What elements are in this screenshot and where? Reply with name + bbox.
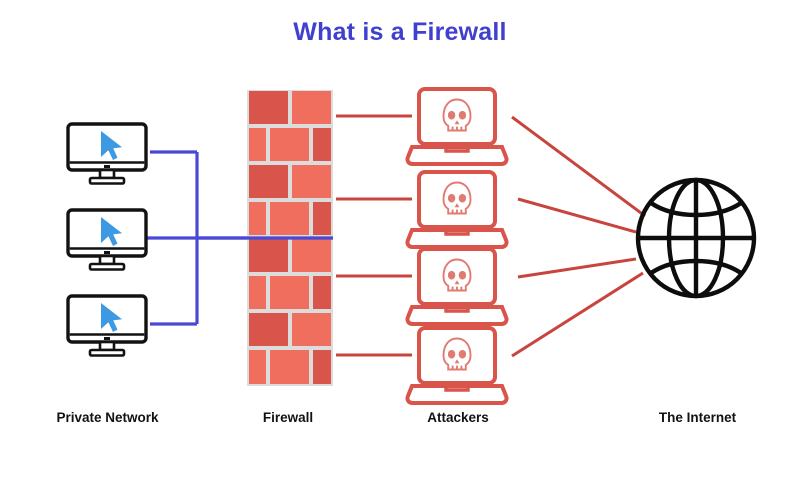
diagram-canvas: What is a Firewall xyxy=(0,0,800,480)
label-internet: The Internet xyxy=(620,410,775,425)
label-attackers: Attackers xyxy=(383,410,533,425)
label-firewall: Firewall xyxy=(218,410,358,425)
label-private-network: Private Network xyxy=(20,410,195,425)
internet-group xyxy=(0,0,800,480)
globe-icon[interactable] xyxy=(638,180,754,296)
